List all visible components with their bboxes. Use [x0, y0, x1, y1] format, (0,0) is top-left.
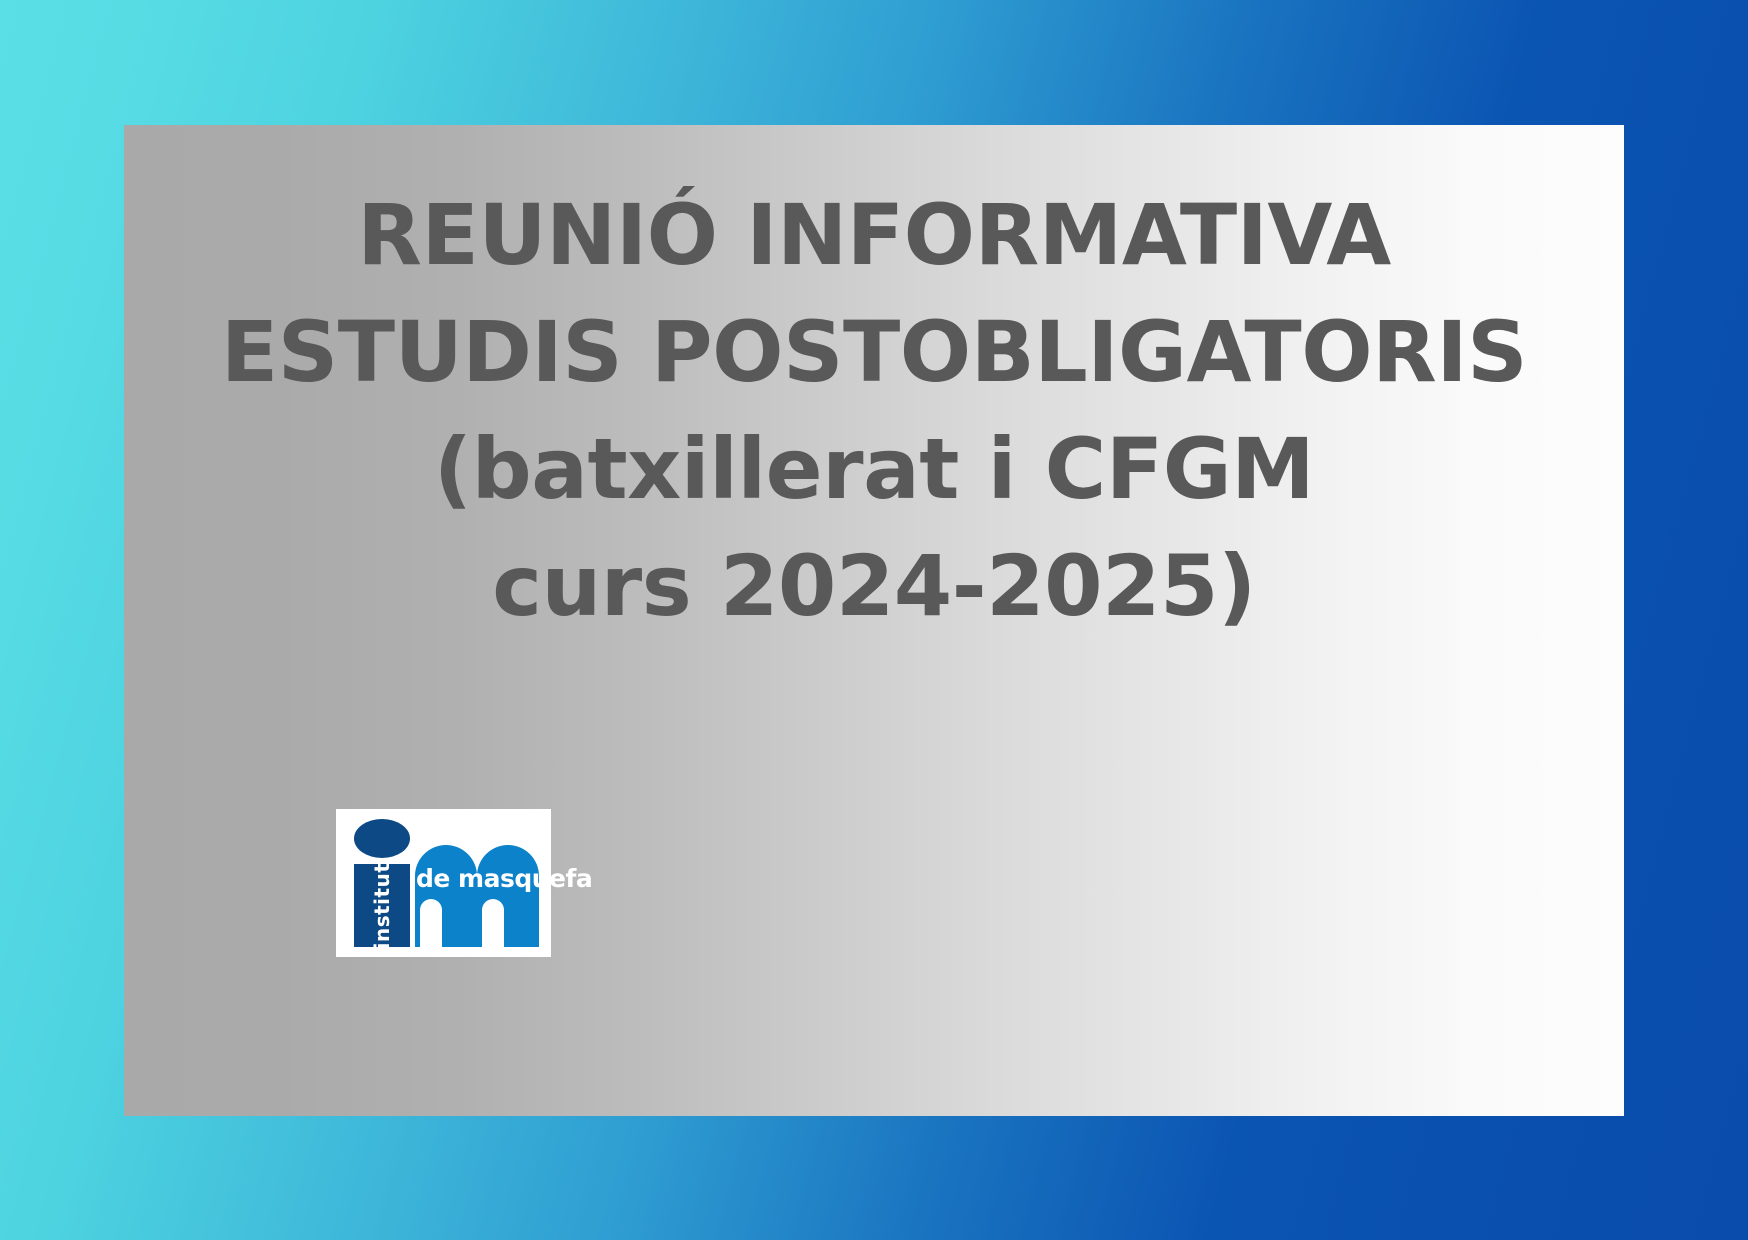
presentation-slide: REUNIÓ INFORMATIVA ESTUDIS POSTOBLIGATOR…: [0, 0, 1748, 1240]
content-card: REUNIÓ INFORMATIVA ESTUDIS POSTOBLIGATOR…: [124, 125, 1624, 1116]
logo-i-dot-icon: [354, 819, 410, 858]
title-line-3: (batxillerat i CFGM: [124, 411, 1624, 528]
title-line-4: curs 2024-2025): [124, 528, 1624, 645]
logo-artwork: institut de masquefa: [348, 819, 539, 947]
logo-vertical-word: institut: [370, 862, 394, 949]
logo-wordmark: de masquefa: [416, 864, 592, 893]
title-line-1: REUNIÓ INFORMATIVA: [124, 177, 1624, 294]
title-line-2: ESTUDIS POSTOBLIGATORIS: [124, 294, 1624, 411]
institut-de-masquefa-logo: institut de masquefa: [336, 809, 551, 957]
logo-m-notch-left: [420, 899, 442, 947]
logo-m-notch-right: [482, 899, 504, 947]
logo-i-stem: institut: [354, 864, 410, 947]
page-title: REUNIÓ INFORMATIVA ESTUDIS POSTOBLIGATOR…: [124, 177, 1624, 645]
